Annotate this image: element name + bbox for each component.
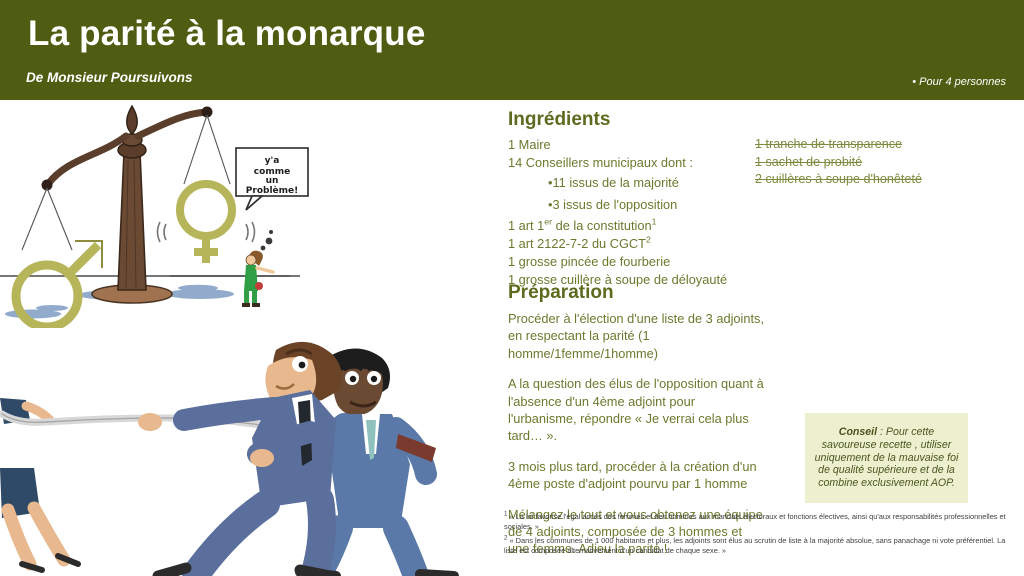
- preparation-heading: Préparation: [508, 282, 614, 304]
- ingredient-item: 1 Maire: [508, 136, 758, 154]
- conseil-body: : Pour cette savoureuse recette , utilis…: [815, 426, 959, 489]
- footnote-text: « Dans les communes de 1 000 habitants e…: [504, 536, 1005, 555]
- footnote-ref-1: 1: [652, 217, 657, 227]
- struck-ingredient-item: 1 sachet de probité: [755, 154, 1015, 172]
- slide-root: La parité à la monarque De Monsieur Pour…: [0, 0, 1024, 576]
- ingredient-item-bullet: •11 issus de la majorité: [508, 174, 758, 192]
- ingredient-text: 1 art 2122-7-2 du CGCT: [508, 236, 646, 251]
- illustration-column: y'a comme un Problème!: [0, 100, 470, 576]
- slide-header: La parité à la monarque De Monsieur Pour…: [0, 0, 1024, 100]
- ingredient-item: 14 Conseillers municipaux dont :: [508, 154, 758, 172]
- footnote-text: « La loi favorise l'égal accès des femme…: [504, 512, 1006, 531]
- preparation-step: 3 mois plus tard, procéder à la création…: [508, 458, 766, 493]
- ingredient-item-bullet: •3 issus de l'opposition: [508, 196, 758, 214]
- preparation-step: A la question des élus de l'opposition q…: [508, 375, 766, 445]
- svg-text:Problème!: Problème!: [246, 185, 298, 196]
- serving-size-label: • Pour 4 personnes: [912, 76, 1006, 88]
- ingredients-list: 1 Maire 14 Conseillers municipaux dont :…: [508, 136, 758, 290]
- ingredient-item: 1 grosse pincée de fourberie: [508, 253, 758, 271]
- conseil-text: Conseil : Pour cette savoureuse recette …: [812, 426, 961, 490]
- ingredient-text-after: de la constitution: [552, 218, 652, 233]
- ingredient-item-cgct: 1 art 2122-7-2 du CGCT2: [508, 235, 758, 253]
- conseil-callout-box: Conseil : Pour cette savoureuse recette …: [805, 413, 968, 503]
- footnotes-block: 1 « La loi favorise l'égal accès des fem…: [504, 512, 1016, 560]
- footnote-2: 2 « Dans les communes de 1 000 habitants…: [504, 536, 1016, 557]
- author-subtitle: De Monsieur Poursuivons: [26, 70, 193, 85]
- footnote-1: 1 « La loi favorise l'égal accès des fem…: [504, 512, 1016, 533]
- ordinal-superscript: er: [544, 217, 552, 227]
- preparation-step: Procéder à l'élection d'une liste de 3 a…: [508, 310, 766, 362]
- ingredients-heading: Ingrédients: [508, 109, 610, 131]
- ingredients-struck-list: 1 tranche de transparence 1 sachet de pr…: [755, 136, 1015, 189]
- balance-scale-illustration: y'a comme un Problème!: [0, 100, 470, 328]
- ingredient-text: 1 art 1: [508, 218, 544, 233]
- svg-text:y'a: y'a: [265, 156, 280, 166]
- page-title: La parité à la monarque: [28, 14, 426, 54]
- footnote-ref-2: 2: [646, 235, 651, 245]
- struck-ingredient-item: 2 cuillères à soupe d'honêteté: [755, 171, 1015, 189]
- conseil-label: Conseil: [839, 426, 877, 438]
- svg-text:un: un: [266, 176, 279, 186]
- tug-of-war-illustration: [0, 328, 470, 576]
- cartoon-person: [242, 251, 273, 307]
- struck-ingredient-item: 1 tranche de transparence: [755, 136, 1015, 154]
- recipe-content: Ingrédients 1 Maire 14 Conseillers munic…: [470, 100, 1024, 576]
- speech-bubble: y'a comme un Problème!: [236, 148, 308, 210]
- ingredient-item-constitution: 1 art 1er de la constitution1: [508, 217, 758, 235]
